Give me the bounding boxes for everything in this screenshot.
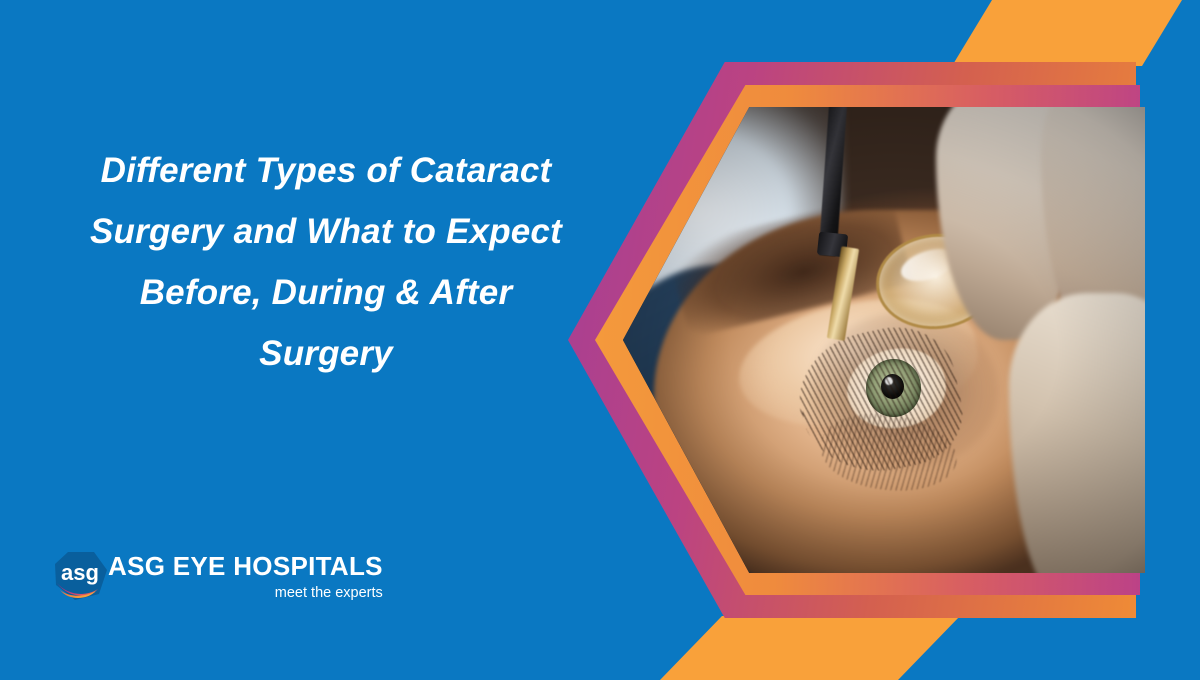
logo-tagline: meet the experts — [108, 586, 383, 601]
promo-banner: Different Types of Cataract Surgery and … — [0, 0, 1200, 680]
page-title: Different Types of Cataract Surgery and … — [24, 140, 628, 384]
asg-badge-icon: asg — [52, 550, 110, 604]
logo-text-block: ASG EYE HOSPITALS meet the experts — [108, 553, 383, 601]
svg-text:asg: asg — [61, 560, 99, 585]
parallelogram-top-right-decoration — [952, 0, 1182, 66]
parallelogram-bottom-decoration — [660, 616, 960, 680]
brand-logo[interactable]: asg ASG EYE HOSPITALS meet the experts — [52, 550, 383, 604]
logo-wordmark: ASG EYE HOSPITALS — [108, 553, 383, 579]
